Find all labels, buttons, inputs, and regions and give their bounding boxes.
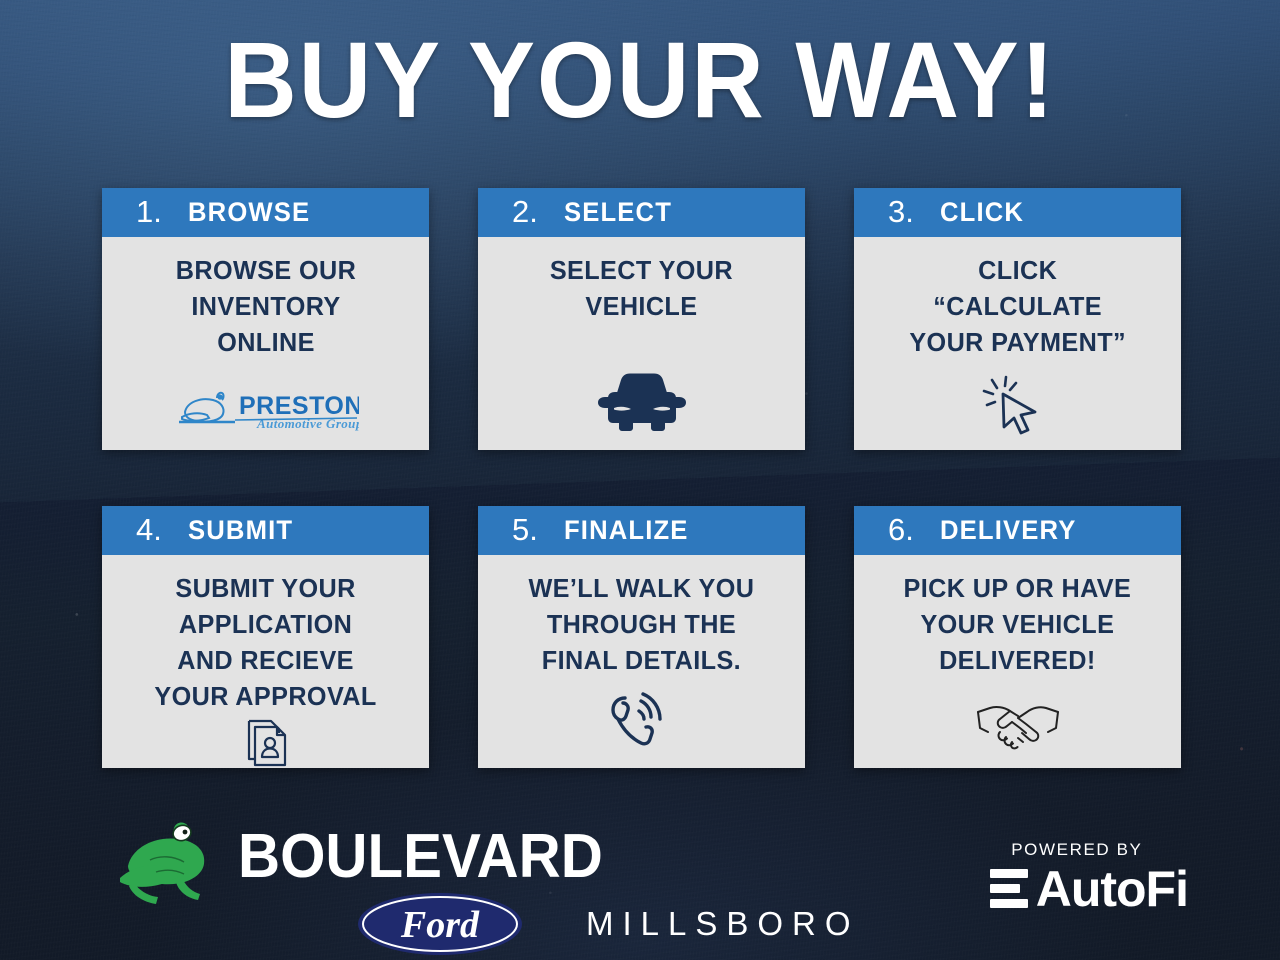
step-card-header: 4. SUBMIT xyxy=(102,506,429,555)
step-card-delivery[interactable]: 6. DELIVERY PICK UP OR HAVE YOUR VEHICLE… xyxy=(854,506,1181,768)
step-description: SUBMIT YOUR APPLICATION AND RECIEVE YOUR… xyxy=(154,571,376,715)
step-card-browse[interactable]: 1. BROWSE BROWSE OUR INVENTORY ONLINE xyxy=(102,188,429,450)
step-number: 6. xyxy=(888,514,914,545)
boulevard-ford-logo: BOULEVARD Ford MILLSBORO xyxy=(112,820,860,957)
step-description: BROWSE OUR INVENTORY ONLINE xyxy=(175,253,355,361)
ford-wordmark-text: Ford xyxy=(400,904,480,946)
step-number: 1. xyxy=(136,196,162,227)
step-number: 5. xyxy=(512,514,538,545)
step-card-body: PICK UP OR HAVE YOUR VEHICLE DELIVERED! xyxy=(854,555,1181,768)
autofi-bars-icon xyxy=(990,869,1028,908)
step-card-header: 1. BROWSE xyxy=(102,188,429,237)
ford-logo-icon: Ford xyxy=(356,891,524,957)
step-card-header: 6. DELIVERY xyxy=(854,506,1181,555)
step-card-finalize[interactable]: 5. FINALIZE WE’LL WALK YOU THROUGH THE F… xyxy=(478,506,805,768)
step-card-select[interactable]: 2. SELECT SELECT YOUR VEHICLE xyxy=(478,188,805,450)
step-title: CLICK xyxy=(940,199,1024,226)
step-number: 2. xyxy=(512,196,538,227)
dealer-city: MILLSBORO xyxy=(586,905,860,943)
brand-second-row: Ford MILLSBORO xyxy=(356,891,860,957)
step-card-body: SELECT YOUR VEHICLE xyxy=(478,237,805,450)
autofi-wordmark: AutoFi xyxy=(1036,864,1188,914)
brand-wordmark-block: BOULEVARD Ford MILLSBORO xyxy=(238,828,860,957)
preston-logo: PRESTON Automotive Group xyxy=(112,388,419,432)
preston-logo-svg: PRESTON Automotive Group xyxy=(173,388,359,432)
buy-your-way-infographic: BUY YOUR WAY! 1. BROWSE BROWSE OUR INVEN… xyxy=(0,0,1280,960)
step-title: FINALIZE xyxy=(564,517,689,544)
step-card-body: WE’LL WALK YOU THROUGH THE FINAL DETAILS… xyxy=(478,555,805,768)
handshake-icon-svg xyxy=(970,698,1066,754)
step-description: SELECT YOUR VEHICLE xyxy=(550,253,733,325)
step-description: PICK UP OR HAVE YOUR VEHICLE DELIVERED! xyxy=(904,571,1132,679)
powered-by-autofi-logo: POWERED BY AutoFi xyxy=(990,840,1188,914)
cursor-click-icon-svg xyxy=(979,374,1057,436)
step-title: DELIVERY xyxy=(940,517,1076,544)
page-title: BUY YOUR WAY! xyxy=(45,26,1235,134)
step-card-body: SUBMIT YOUR APPLICATION AND RECIEVE YOUR… xyxy=(102,555,429,768)
step-card-body: BROWSE OUR INVENTORY ONLINE PRESTON xyxy=(102,237,429,450)
step-number: 3. xyxy=(888,196,914,227)
phone-ringing-icon xyxy=(488,690,795,754)
step-title: SELECT xyxy=(564,199,672,226)
step-card-header: 2. SELECT xyxy=(478,188,805,237)
step-card-click[interactable]: 3. CLICK CLICK “CALCULATE YOUR PAYMENT” xyxy=(854,188,1181,450)
step-title: SUBMIT xyxy=(188,517,293,544)
steps-grid: 1. BROWSE BROWSE OUR INVENTORY ONLINE xyxy=(102,188,1181,768)
step-number: 4. xyxy=(136,514,162,545)
frog-mascot-icon xyxy=(112,820,224,912)
step-card-body: CLICK “CALCULATE YOUR PAYMENT” xyxy=(854,237,1181,450)
application-document-icon xyxy=(112,715,419,769)
phone-ringing-icon-svg xyxy=(605,690,679,754)
cursor-click-icon xyxy=(864,374,1171,436)
autofi-mark: AutoFi xyxy=(990,864,1188,914)
car-icon-svg xyxy=(590,366,694,436)
step-description: WE’LL WALK YOU THROUGH THE FINAL DETAILS… xyxy=(529,571,755,679)
car-icon xyxy=(488,366,795,436)
dealer-name: BOULEVARD xyxy=(238,828,603,887)
footer: BOULEVARD Ford MILLSBORO POWERED BY xyxy=(0,806,1280,960)
step-card-header: 5. FINALIZE xyxy=(478,506,805,555)
application-document-icon-svg xyxy=(235,715,297,769)
handshake-icon xyxy=(864,698,1171,754)
step-card-submit[interactable]: 4. SUBMIT SUBMIT YOUR APPLICATION AND RE… xyxy=(102,506,429,768)
step-description: CLICK “CALCULATE YOUR PAYMENT” xyxy=(909,253,1126,361)
step-card-header: 3. CLICK xyxy=(854,188,1181,237)
step-title: BROWSE xyxy=(188,199,310,226)
powered-by-label: POWERED BY xyxy=(1011,840,1142,860)
